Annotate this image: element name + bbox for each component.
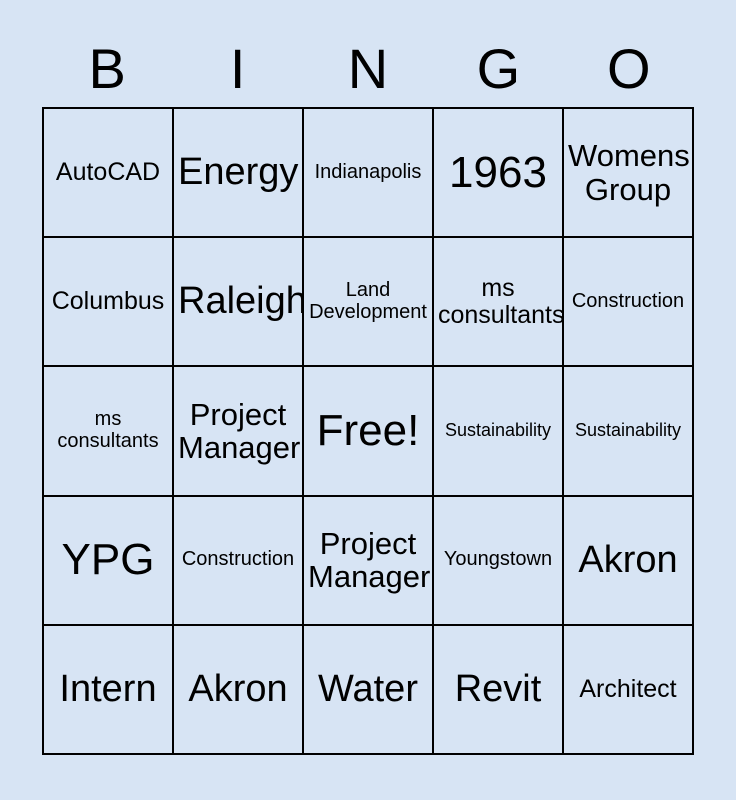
bingo-cell-label: 1963 <box>438 149 558 197</box>
bingo-cell-label: Sustainability <box>438 421 558 440</box>
bingo-cell-label: Intern <box>48 669 168 710</box>
bingo-cell-r3c2[interactable]: Project Manager <box>174 367 304 496</box>
bingo-cell-label: Revit <box>438 669 558 710</box>
bingo-cell-r2c2[interactable]: Raleigh <box>174 238 304 367</box>
bingo-header-letter-n: N <box>303 36 433 102</box>
bingo-cell-r5c2[interactable]: Akron <box>174 626 304 755</box>
bingo-cell-r1c1[interactable]: AutoCAD <box>44 109 174 238</box>
bingo-header-letter-i: I <box>172 36 302 102</box>
bingo-cell-r1c3[interactable]: Indianapolis <box>304 109 434 238</box>
bingo-cell-label: Land Development <box>308 280 428 323</box>
bingo-cell-r5c1[interactable]: Intern <box>44 626 174 755</box>
bingo-cell-label: Project Manager <box>178 398 298 465</box>
bingo-cell-label: Youngstown <box>438 549 558 571</box>
bingo-header-letter-g: G <box>433 36 563 102</box>
bingo-cell-r3c5[interactable]: Sustainability <box>564 367 694 496</box>
bingo-grid: AutoCAD Energy Indianapolis 1963 Womens … <box>42 107 694 755</box>
bingo-cell-label: Construction <box>178 549 298 571</box>
bingo-cell-label: Raleigh <box>178 281 298 322</box>
bingo-cell-label: Project Manager <box>308 527 428 594</box>
bingo-cell-label: Akron <box>178 669 298 710</box>
bingo-header-letter-o: O <box>564 36 694 102</box>
bingo-cell-label: ms consultants <box>48 409 168 452</box>
bingo-cell-r5c3[interactable]: Water <box>304 626 434 755</box>
bingo-cell-free-space[interactable]: Free! <box>304 367 434 496</box>
bingo-cell-r4c5[interactable]: Akron <box>564 497 694 626</box>
bingo-cell-label: Sustainability <box>568 421 688 440</box>
bingo-cell-r1c5[interactable]: Womens Group <box>564 109 694 238</box>
bingo-cell-label: Energy <box>178 152 298 193</box>
bingo-cell-r2c4[interactable]: ms consultants <box>434 238 564 367</box>
bingo-cell-r4c2[interactable]: Construction <box>174 497 304 626</box>
bingo-cell-r3c1[interactable]: ms consultants <box>44 367 174 496</box>
bingo-cell-label: Water <box>308 669 428 710</box>
bingo-cell-r4c3[interactable]: Project Manager <box>304 497 434 626</box>
bingo-cell-label: Indianapolis <box>308 162 428 184</box>
bingo-cell-r4c1[interactable]: YPG <box>44 497 174 626</box>
bingo-cell-r3c4[interactable]: Sustainability <box>434 367 564 496</box>
bingo-cell-label: Columbus <box>48 288 168 315</box>
bingo-cell-label: Akron <box>568 540 688 581</box>
bingo-cell-r1c2[interactable]: Energy <box>174 109 304 238</box>
bingo-cell-label: ms consultants <box>438 275 558 329</box>
bingo-cell-label: YPG <box>48 536 168 584</box>
bingo-cell-label: AutoCAD <box>48 159 168 186</box>
bingo-header-letter-b: B <box>42 36 172 102</box>
bingo-cell-label: Architect <box>568 676 688 703</box>
bingo-cell-label: Free! <box>308 407 428 455</box>
bingo-header-row: B I N G O <box>42 36 694 102</box>
bingo-cell-r2c1[interactable]: Columbus <box>44 238 174 367</box>
bingo-cell-r5c5[interactable]: Architect <box>564 626 694 755</box>
bingo-cell-label: Construction <box>568 291 688 313</box>
bingo-cell-r2c5[interactable]: Construction <box>564 238 694 367</box>
bingo-cell-r4c4[interactable]: Youngstown <box>434 497 564 626</box>
bingo-card: B I N G O AutoCAD Energy Indianapolis 19… <box>0 0 736 800</box>
bingo-cell-r2c3[interactable]: Land Development <box>304 238 434 367</box>
bingo-cell-r5c4[interactable]: Revit <box>434 626 564 755</box>
bingo-cell-label: Womens Group <box>568 139 688 206</box>
bingo-cell-r1c4[interactable]: 1963 <box>434 109 564 238</box>
